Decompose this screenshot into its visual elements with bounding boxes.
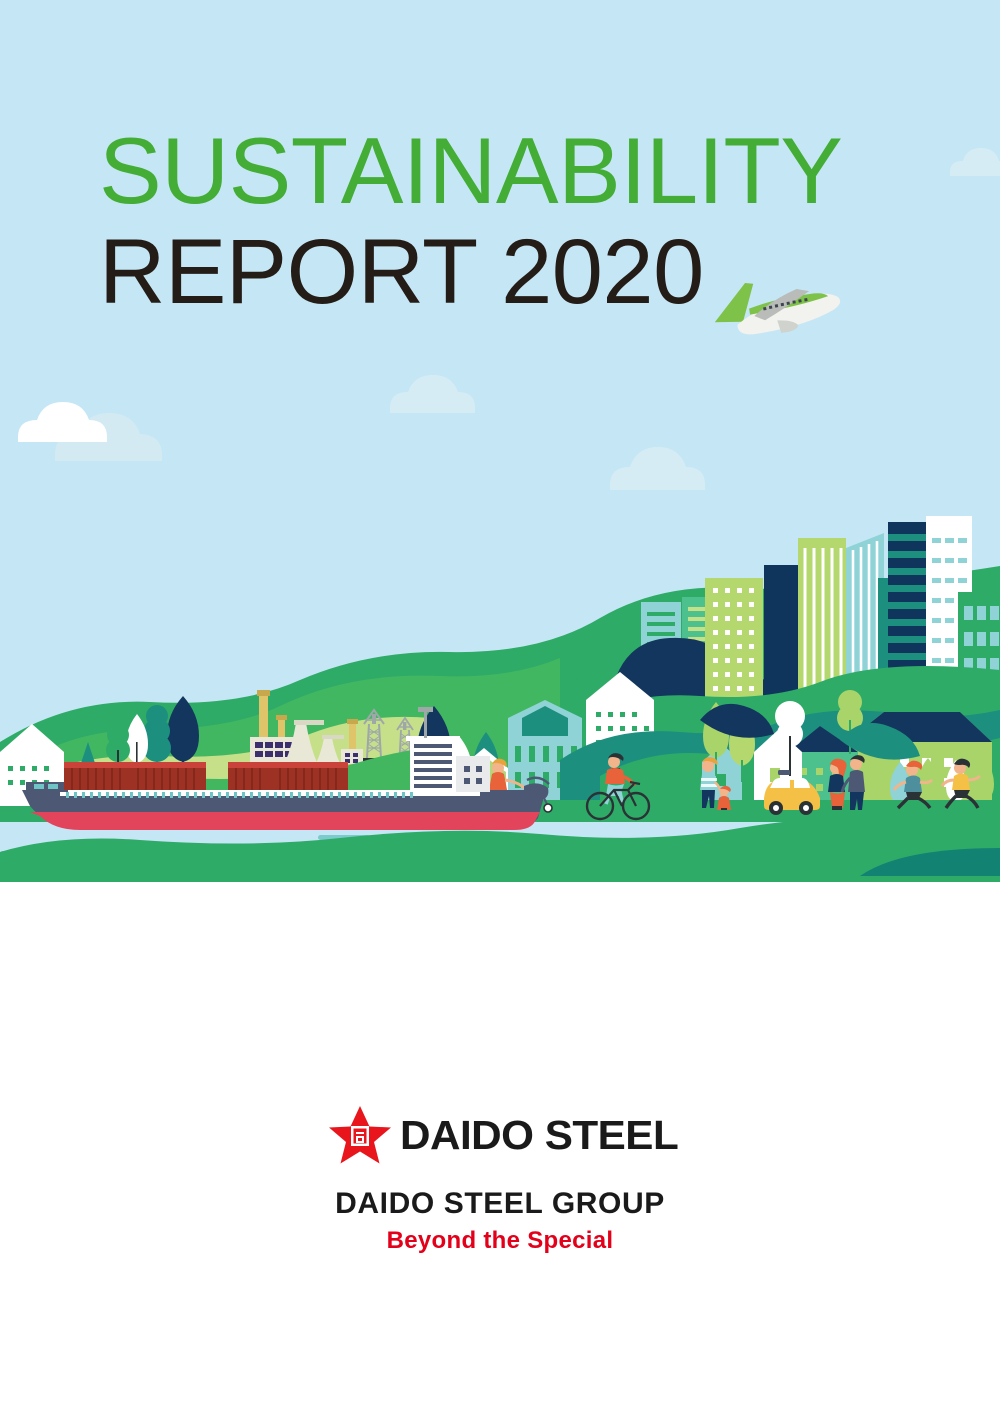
- daido-steel-group-name: DAIDO STEEL GROUP: [0, 1187, 1000, 1221]
- ship-mast: [424, 710, 427, 738]
- daido-red-star-icon: [329, 1105, 391, 1165]
- containers-right: [228, 762, 348, 790]
- daido-tagline: Beyond the Special: [0, 1227, 1000, 1255]
- daido-steel-wordmark: DAIDO STEEL: [400, 1115, 678, 1156]
- car-roof-rack: [778, 770, 790, 775]
- logo-row: DAIDO STEEL: [0, 1105, 1000, 1165]
- containers-left: [64, 762, 206, 790]
- building-green-far-right-windows: [964, 606, 999, 672]
- ship-hull-red: [30, 812, 540, 830]
- cover-illustration: SUSTAINABILITY REPORT 2020: [0, 0, 1000, 882]
- eco-city-illustration: [0, 0, 1000, 882]
- company-logo-block: DAIDO STEEL DAIDO STEEL GROUP Beyond the…: [0, 1105, 1000, 1255]
- ship-stern-block: [456, 756, 490, 792]
